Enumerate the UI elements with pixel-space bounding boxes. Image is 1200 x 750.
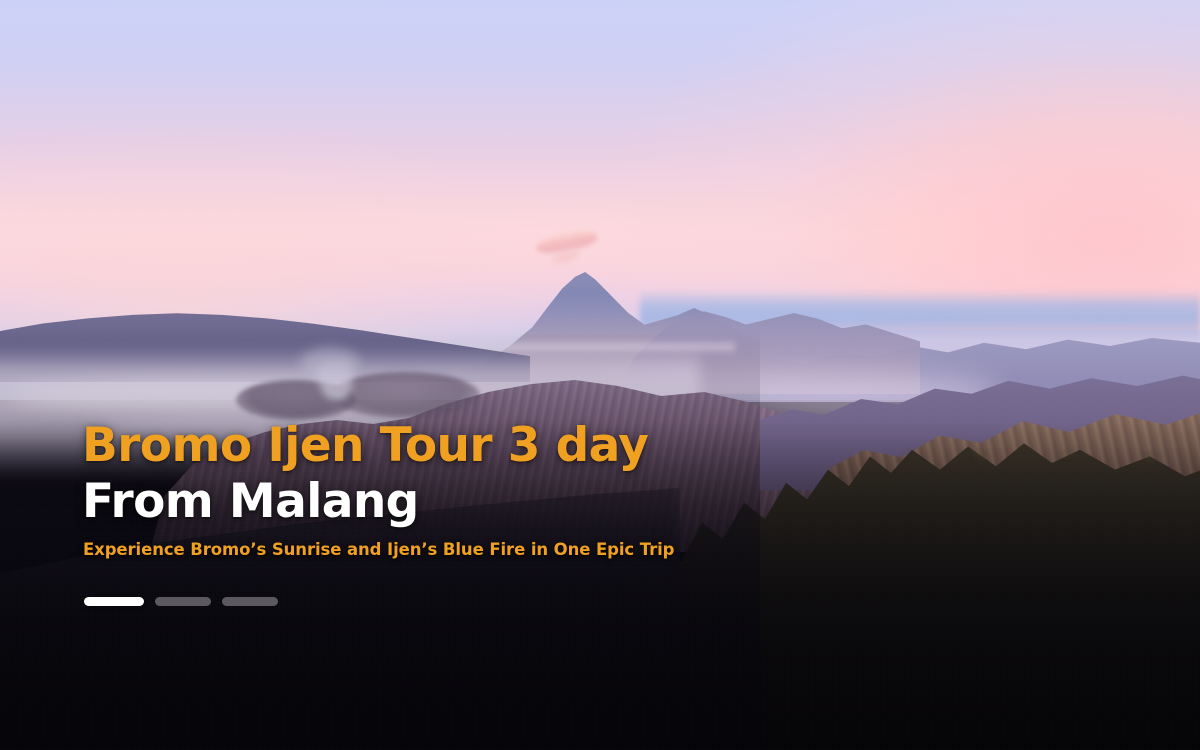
bromo-smoke-plume: [318, 356, 352, 400]
page-title-line-2: From Malang: [82, 474, 822, 530]
carousel-dot-2[interactable]: [155, 597, 211, 606]
hero-banner: Bromo Ijen Tour 3 day From Malang Experi…: [0, 0, 1200, 750]
page-subtitle: Experience Bromo’s Sunrise and Ijen’s Bl…: [83, 539, 822, 561]
page-title-line-1: Bromo Ijen Tour 3 day: [82, 418, 648, 473]
hero-caption: Bromo Ijen Tour 3 day From Malang Experi…: [82, 418, 822, 561]
bromo-crater-rim-b: [330, 372, 480, 418]
carousel-dot-3[interactable]: [222, 597, 278, 606]
carousel-dot-1[interactable]: [84, 597, 144, 606]
sunrise-glow-right: [600, 0, 1200, 330]
carousel-indicators[interactable]: [84, 597, 278, 606]
page-title: Bromo Ijen Tour 3 day From Malang: [82, 418, 822, 530]
